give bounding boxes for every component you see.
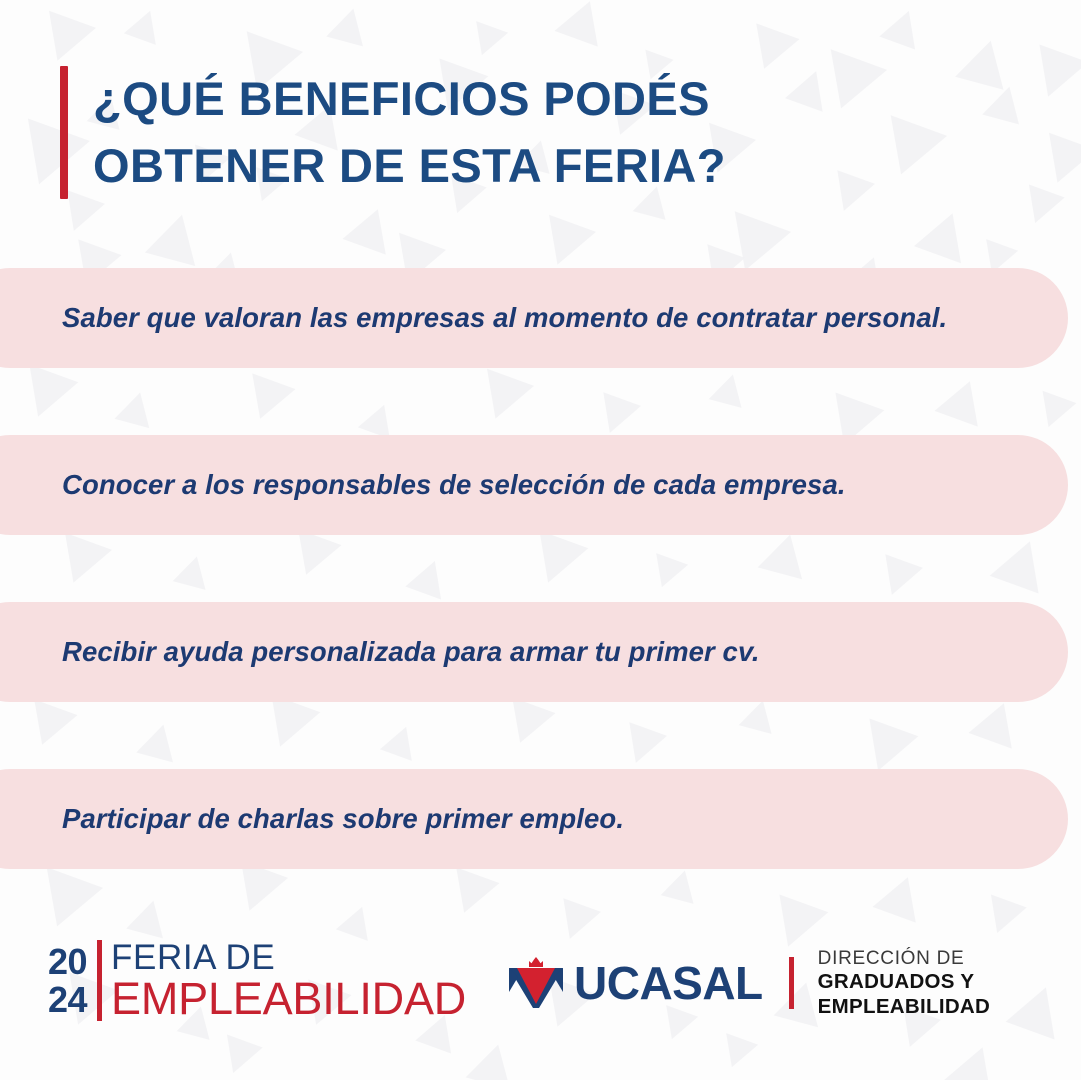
direccion-lockup: DIRECCIÓN DE GRADUADOS Y EMPLEABILIDAD [818,948,1081,1019]
benefit-pill-label: Conocer a los responsables de selección … [62,469,846,501]
decorative-triangle-icon [709,370,750,408]
decorative-triangle-icon [14,364,79,425]
decorative-triangle-icon [944,1039,1006,1080]
decorative-triangle-icon [29,867,103,936]
ucasal-shield-icon [508,957,564,1009]
decorative-triangle-icon [617,722,667,770]
decorative-triangle-icon [114,388,157,428]
decorative-triangle-icon [785,64,835,112]
decorative-triangle-icon [524,530,589,591]
feria-wordmark-line-2: EMPLEABILIDAD [111,976,466,1021]
ucasal-logo: UCASAL DIRECCIÓN DE GRADUADOS Y EMPLEABI… [508,948,1081,1019]
decorative-triangle-icon [873,869,930,922]
benefit-pill: Conocer a los responsables de selección … [0,435,1068,535]
decorative-triangle-icon [534,215,596,273]
decorative-triangle-icon [50,533,112,591]
decorative-triangle-icon [743,23,800,76]
decorative-triangle-icon [226,861,288,919]
feria-wordmark-line-1: FERIA DE [111,940,466,975]
decorative-triangle-icon [825,170,875,218]
feria-wordmark: FERIA DE EMPLEABILIDAD [111,940,466,1021]
decorative-triangle-icon [466,1039,521,1080]
feria-year-top: 20 [48,943,87,980]
decorative-triangle-icon [935,373,992,426]
decorative-triangle-icon [758,529,813,580]
decorative-triangle-icon [873,115,947,184]
decorative-triangle-icon [21,699,78,752]
benefit-pill-label: Recibir ayuda personalizada para armar t… [62,636,760,668]
page-title: ¿QUÉ BENEFICIOS PODÉS OBTENER DE ESTA FE… [60,66,726,199]
decorative-triangle-icon [990,532,1055,593]
decorative-triangle-icon [1032,391,1077,433]
title-line-1: ¿QUÉ BENEFICIOS PODÉS [93,66,726,133]
decorative-triangle-icon [969,695,1026,748]
feria-year: 20 24 [48,943,87,1017]
benefit-pill: Participar de charlas sobre primer emple… [0,769,1068,869]
decorative-triangle-icon [443,867,500,920]
decorative-triangle-icon [34,11,96,69]
decorative-triangle-icon [173,552,214,590]
decorative-triangle-icon [982,82,1028,125]
decorative-triangle-icon [343,201,400,254]
footer: 20 24 FERIA DE EMPLEABILIDAD [0,930,1081,1040]
feria-2024-logo: 20 24 FERIA DE EMPLEABILIDAD [48,940,466,1021]
feria-divider [97,940,102,1021]
decorative-triangle-icon [285,529,342,582]
feria-year-bottom: 24 [48,981,87,1018]
decorative-triangle-icon [358,399,400,439]
decorative-triangle-icon [646,553,688,593]
decorative-triangle-icon [136,720,182,763]
decorative-triangle-icon [472,369,534,427]
decorative-triangle-icon [380,721,422,761]
decorative-triangle-icon [813,49,887,118]
decorative-triangle-icon [1034,133,1081,191]
direccion-line-2: GRADUADOS Y EMPLEABILIDAD [818,970,1081,1018]
benefit-pill-label: Participar de charlas sobre primer emple… [62,803,624,835]
decorative-triangle-icon [256,694,321,755]
decorative-triangle-icon [145,208,207,266]
decorative-triangle-icon [1017,185,1064,230]
decorative-triangle-icon [326,4,372,47]
ucasal-wordmark: UCASAL [574,960,763,1006]
decorative-triangle-icon [873,554,923,602]
decorative-triangle-icon [555,0,612,47]
decorative-triangle-icon [499,697,556,750]
title-line-2: OBTENER DE ESTA FERIA? [93,133,726,200]
direccion-line-1: DIRECCIÓN DE [818,948,1081,970]
decorative-triangle-icon [239,373,296,426]
ucasal-separator [789,957,794,1009]
decorative-triangle-icon [215,1035,262,1080]
decorative-triangle-icon [405,555,452,600]
decorative-triangle-icon [914,205,976,263]
decorative-triangle-icon [879,5,926,50]
decorative-triangle-icon [466,21,508,61]
decorative-triangle-icon [591,392,641,440]
decorative-triangle-icon [955,34,1015,89]
title-text: ¿QUÉ BENEFICIOS PODÉS OBTENER DE ESTA FE… [93,66,726,199]
poster-canvas: ¿QUÉ BENEFICIOS PODÉS OBTENER DE ESTA FE… [0,0,1081,1080]
decorative-triangle-icon [1024,44,1081,105]
decorative-triangle-icon [124,5,166,45]
benefit-pill: Recibir ayuda personalizada para armar t… [0,602,1068,702]
decorative-triangle-icon [661,866,702,904]
title-accent-bar [60,66,68,199]
benefit-pill-label: Saber que valoran las empresas al moment… [62,302,947,334]
benefit-pill: Saber que valoran las empresas al moment… [0,268,1068,368]
